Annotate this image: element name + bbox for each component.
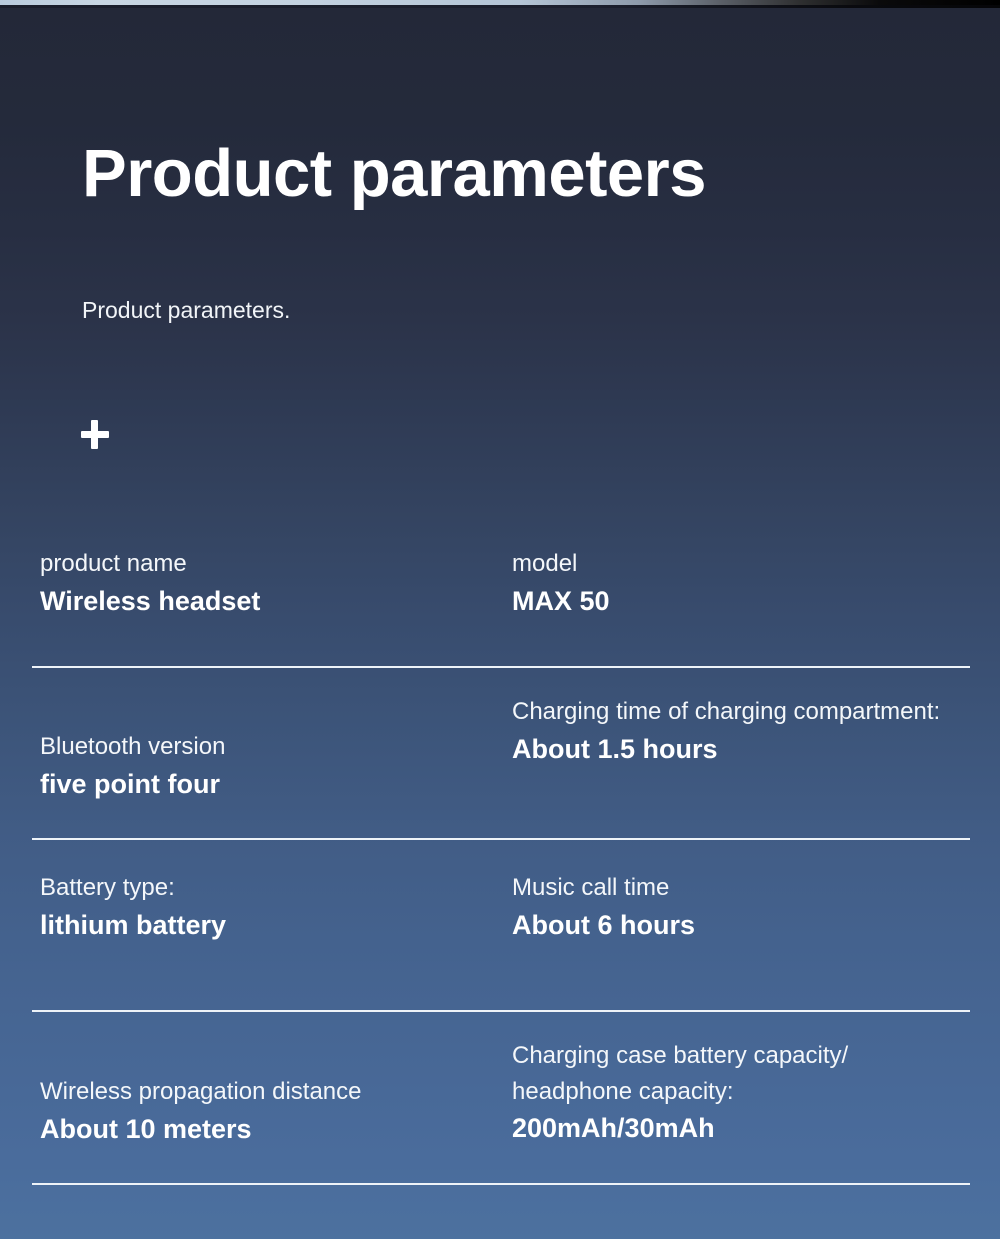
table-row: Bluetooth version five point four Chargi… bbox=[0, 668, 1000, 840]
top-strip-shadow bbox=[0, 5, 1000, 8]
spec-label: model bbox=[512, 546, 960, 582]
spec-cell-bluetooth-version: Bluetooth version five point four bbox=[40, 694, 512, 803]
spec-label: Charging time of charging compartment: bbox=[512, 694, 960, 730]
spec-value: 200mAh/30mAh bbox=[512, 1109, 960, 1147]
spec-cell-music-call-time: Music call time About 6 hours bbox=[512, 870, 960, 944]
spec-value: lithium battery bbox=[40, 906, 504, 944]
page-subtitle: Product parameters. bbox=[82, 297, 290, 325]
spec-value: five point four bbox=[40, 765, 504, 803]
spec-cell-wireless-distance: Wireless propagation distance About 10 m… bbox=[40, 1038, 512, 1148]
spec-value: About 1.5 hours bbox=[512, 730, 960, 768]
spec-cell-charging-time: Charging time of charging compartment: A… bbox=[512, 694, 960, 803]
plus-icon-vertical-bar bbox=[91, 420, 98, 449]
table-row: Wireless propagation distance About 10 m… bbox=[0, 1012, 1000, 1185]
spec-label: Wireless propagation distance bbox=[40, 1074, 504, 1110]
spec-label: Bluetooth version bbox=[40, 729, 504, 765]
spec-value: MAX 50 bbox=[512, 582, 960, 620]
spec-value: About 6 hours bbox=[512, 906, 960, 944]
spec-label: product name bbox=[40, 546, 504, 582]
product-parameters-page: Product parameters Product parameters. p… bbox=[0, 0, 1000, 1239]
table-row: Battery type: lithium battery Music call… bbox=[0, 840, 1000, 1012]
row-divider bbox=[32, 1183, 970, 1185]
spec-cell-battery-type: Battery type: lithium battery bbox=[40, 870, 512, 944]
spec-cell-battery-capacity: Charging case battery capacity/ headphon… bbox=[512, 1038, 960, 1148]
spec-table: product name Wireless headset model MAX … bbox=[0, 528, 1000, 1185]
spec-cell-product-name: product name Wireless headset bbox=[40, 546, 512, 620]
spec-value: Wireless headset bbox=[40, 582, 504, 620]
table-row: product name Wireless headset model MAX … bbox=[0, 528, 1000, 668]
spec-label: Charging case battery capacity/ headphon… bbox=[512, 1038, 960, 1109]
spec-value: About 10 meters bbox=[40, 1110, 504, 1148]
spec-label: Music call time bbox=[512, 870, 960, 906]
page-title: Product parameters bbox=[82, 140, 706, 207]
spec-cell-model: model MAX 50 bbox=[512, 546, 960, 620]
spec-label: Battery type: bbox=[40, 870, 504, 906]
plus-icon[interactable] bbox=[78, 416, 112, 452]
